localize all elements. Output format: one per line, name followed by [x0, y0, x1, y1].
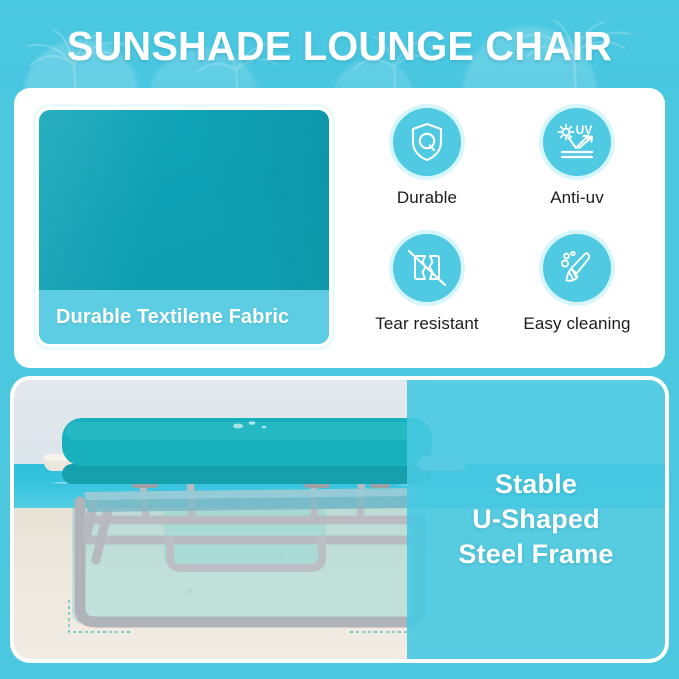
broom-bubbles-icon	[543, 234, 611, 302]
feature-durable: Durable	[352, 102, 502, 228]
infographic-page: SUNSHADE LOUNGE CHAIR Durable Textilene …	[0, 0, 679, 679]
uv-text: UV	[576, 123, 593, 137]
feature-anti-uv: UV Anti-uv	[502, 102, 652, 228]
feature-label: Anti-uv	[550, 188, 604, 208]
feature-label: Tear resistant	[375, 314, 478, 334]
fabric-swatch-card: Durable Textilene Fabric	[36, 107, 332, 347]
callout-line-1: Stable	[458, 467, 613, 502]
fabric-swatch: Durable Textilene Fabric	[39, 110, 329, 344]
shield-quality-icon	[393, 108, 461, 176]
feature-easy-cleaning: Easy cleaning	[502, 228, 652, 354]
callout-line-3: Steel Frame	[458, 537, 613, 572]
feature-card: Durable Textilene Fabric Durable	[14, 88, 665, 368]
page-title: SUNSHADE LOUNGE CHAIR	[10, 18, 669, 74]
frame-callout-text: Stable U-Shaped Steel Frame	[458, 467, 613, 572]
product-photo-panel: Stable U-Shaped Steel Frame	[14, 380, 665, 659]
feature-grid: Durable UV	[352, 102, 652, 354]
uv-protection-icon: UV	[543, 108, 611, 176]
header-banner: SUNSHADE LOUNGE CHAIR	[0, 0, 679, 92]
feature-label: Easy cleaning	[523, 314, 630, 334]
fabric-swatch-caption: Durable Textilene Fabric	[39, 290, 329, 344]
feature-label: Durable	[397, 188, 457, 208]
callout-line-2: U-Shaped	[458, 502, 613, 537]
torn-fabric-slash-icon	[393, 234, 461, 302]
feature-tear-resistant: Tear resistant	[352, 228, 502, 354]
frame-callout-overlay: Stable U-Shaped Steel Frame	[407, 380, 665, 659]
